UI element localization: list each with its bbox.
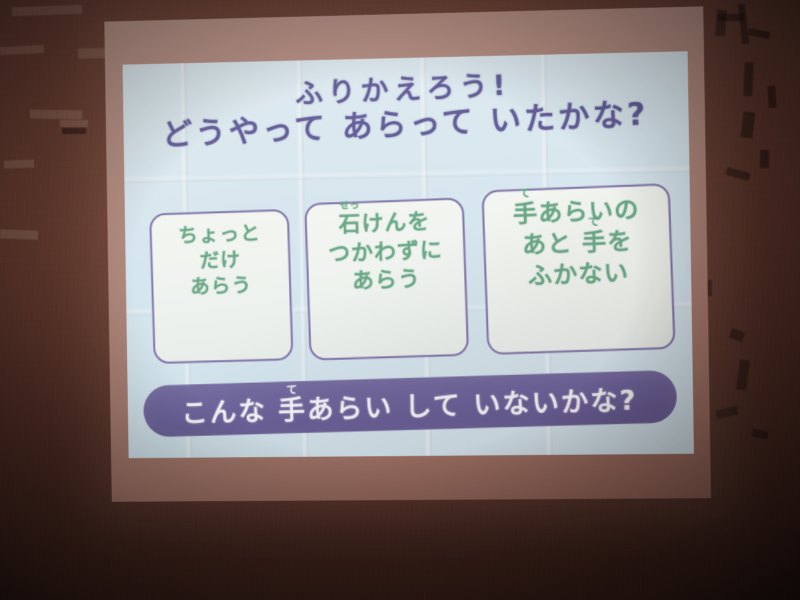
tip-box-line: だけ <box>158 245 283 275</box>
furigana: て <box>588 216 600 227</box>
tip-box-line: ふかない <box>492 257 665 295</box>
poster-sheet: ふりかえろう! どうやって あらって いたかな? ちょっとだけあらう せっ石けん… <box>123 51 694 458</box>
wall-mark <box>760 150 769 168</box>
furigana: せっ <box>339 201 359 212</box>
poster-title: ふりかえろう! どうやって あらって いたかな? <box>123 67 689 149</box>
ruby-group: て手 <box>513 201 539 226</box>
text-run: だけ <box>199 247 241 272</box>
wall-mark <box>62 128 86 134</box>
text-run: つかわずに <box>328 238 443 267</box>
text-run: あらう <box>352 267 422 294</box>
wall-mark <box>60 120 88 127</box>
wall-mark <box>743 62 754 96</box>
tip-box-2: せっ石けんをつかわずにあらう <box>304 197 469 360</box>
text-run: けんを <box>361 210 431 237</box>
wall-mark <box>4 159 34 168</box>
paper-fold <box>124 165 689 184</box>
tip-box-1: ちょっとだけあらう <box>149 209 293 364</box>
banner-text: こんな て手あらい して いないかな? <box>181 378 639 430</box>
wall-mark <box>0 229 38 239</box>
tip-box-line: て手あらいの <box>490 194 663 232</box>
tip-boxes-group: ちょっとだけあらう せっ石けんをつかわずにあらう て手あらいのあと て手をふかな… <box>142 181 676 367</box>
ruby-group: て手 <box>278 396 308 424</box>
tip-box-3: て手あらいのあと て手をふかない <box>481 183 675 355</box>
tip-box-line: あらう <box>314 265 458 298</box>
furigana: て <box>519 188 530 199</box>
wall-mark <box>30 110 82 120</box>
ruby-base: 手 <box>512 199 538 228</box>
wall-mark <box>718 14 744 21</box>
projected-image-area: ふりかえろう! どうやって あらって いたかな? ちょっとだけあらう せっ石けん… <box>104 6 711 501</box>
photo-canvas: ふりかえろう! どうやって あらって いたかな? ちょっとだけあらう せっ石けん… <box>0 0 800 600</box>
wall-mark <box>767 86 777 109</box>
ruby-base: 手 <box>278 394 308 426</box>
ruby-group: て手 <box>581 230 607 255</box>
tip-box-line: ちょっと <box>157 219 282 249</box>
text-run: あらう <box>190 273 253 299</box>
ruby-base: 手 <box>581 228 607 257</box>
tip-box-line: つかわずに <box>313 236 457 270</box>
text-run: こんな <box>181 395 279 429</box>
ruby-group: せっ石 <box>338 214 362 237</box>
tip-box-line: あらう <box>159 271 284 301</box>
text-run: ちょっと <box>178 221 261 248</box>
bottom-banner: こんな て手あらい して いないかな? <box>143 370 678 438</box>
text-run: ふかない <box>527 259 629 291</box>
ruby-base: 石 <box>338 212 362 238</box>
text-run: を <box>607 227 633 256</box>
text-run: あと <box>521 229 582 259</box>
text-run: あらい して いないかな? <box>306 385 638 426</box>
furigana: て <box>286 384 297 395</box>
